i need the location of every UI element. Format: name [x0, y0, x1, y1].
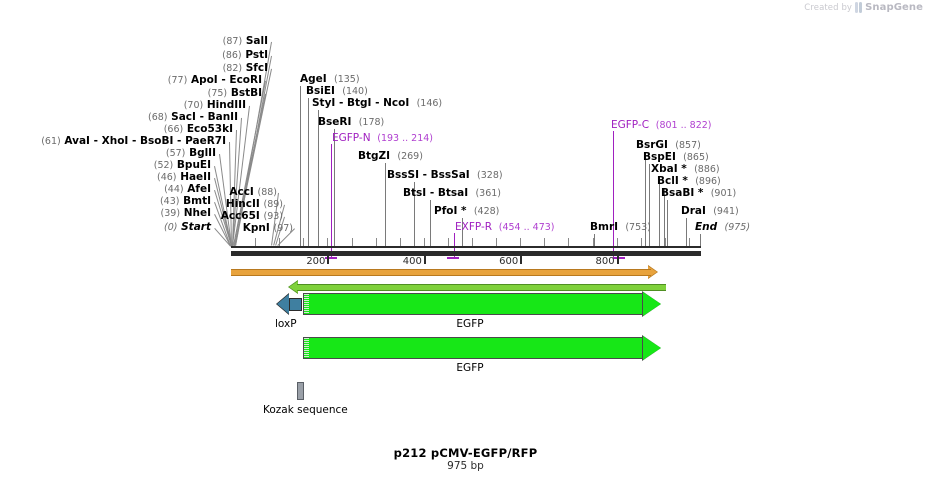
- kozak-box: [297, 382, 304, 400]
- enzyme-label-acc65i[interactable]: Acc65I (93): [0, 211, 283, 222]
- enzyme-label-acci[interactable]: AccI (88): [0, 187, 277, 198]
- backbone-main-line: [231, 251, 701, 256]
- enzyme-label-agei[interactable]: AgeI (135): [300, 74, 360, 85]
- primer-label-egfp-c[interactable]: EGFP-C (801 .. 822): [611, 120, 712, 131]
- feature-arrow-egfp-2[interactable]: [303, 337, 643, 359]
- enzyme-label-bsssi[interactable]: BssSI - BssSaI (328): [387, 170, 503, 181]
- leader-line-bsiei: [308, 98, 309, 246]
- snapgene-logo-icon: [855, 2, 862, 13]
- ruler-minor-tick: [641, 238, 642, 246]
- enzyme-label-eco53ki[interactable]: (66) Eco53kI: [0, 124, 233, 135]
- ruler-minor-tick: [665, 238, 666, 246]
- enzyme-label-haeii[interactable]: (46) HaeII: [0, 172, 211, 183]
- leader-line-btgzi: [385, 163, 386, 246]
- ruler-minor-tick: [593, 238, 594, 246]
- primer-bracket-egfp-c: [613, 257, 625, 259]
- leader-line-bsabi: [667, 200, 668, 246]
- enzyme-label-saci[interactable]: (68) SacI - BanII: [0, 112, 238, 123]
- leader-line-styi: [318, 110, 319, 246]
- ruler-tick-600: [520, 256, 522, 264]
- loxp-arrow-body: [289, 298, 302, 311]
- feature-arrow-body: [303, 337, 643, 359]
- ruler-minor-tick: [327, 238, 328, 246]
- enzyme-label-avai[interactable]: (61) AvaI - XhoI - BsoBI - PaeR7I: [0, 136, 226, 147]
- ruler-minor-tick: [448, 238, 449, 246]
- ruler-minor-tick: [303, 238, 304, 246]
- ruler-minor-tick: [424, 238, 425, 246]
- ruler-tick-800: [617, 256, 619, 264]
- enzyme-label-bmri[interactable]: BmrI (753): [590, 222, 651, 233]
- enzyme-label-bstbi[interactable]: (75) BstBI: [0, 88, 262, 99]
- leader-line-drai: [686, 218, 687, 246]
- leader-line-bmri: [594, 234, 595, 246]
- primer-label-egfp-n[interactable]: EGFP-N (193 .. 214): [332, 133, 433, 144]
- enzyme-label-psti[interactable]: (86) PstI: [0, 50, 268, 61]
- ruler-minor-tick: [255, 238, 256, 246]
- primer-bracket-exfp-r: [447, 257, 459, 259]
- leader-line-agei: [300, 86, 301, 246]
- enzyme-label-styi[interactable]: StyI - BtgI - NcoI (146): [312, 98, 442, 109]
- primer-line-egfp-c: [613, 131, 614, 259]
- enzyme-label-bglii[interactable]: (57) BglII: [0, 148, 216, 159]
- enzyme-label-sali[interactable]: (87) SalI: [0, 36, 268, 47]
- enzyme-label-bsiei[interactable]: BsiEI (140): [306, 86, 368, 97]
- ruler-minor-tick: [520, 238, 521, 246]
- enzyme-label-bseri[interactable]: BseRI (178): [318, 117, 384, 128]
- enzyme-label-btgzi[interactable]: BtgZI (269): [358, 151, 423, 162]
- feature-arrow-body: [303, 293, 643, 315]
- ruler-label-600: 600: [494, 256, 518, 267]
- enzyme-label-drai[interactable]: DraI (941): [681, 206, 739, 217]
- enzyme-label-xbai[interactable]: XbaI * (886): [651, 164, 720, 175]
- feature-arrowhead: [643, 336, 661, 360]
- primer-line-egfp-n: [331, 144, 332, 259]
- enzyme-label-end[interactable]: End (975): [695, 222, 750, 233]
- enzyme-label-kpni[interactable]: KpnI (97): [0, 223, 293, 234]
- enzyme-label-bpuei[interactable]: (52) BpuEI: [0, 160, 211, 171]
- enzyme-label-bcli[interactable]: BclI * (896): [657, 176, 721, 187]
- leader-line-end: [700, 234, 701, 246]
- ruler-minor-tick: [689, 238, 690, 246]
- feature-start-stripe: [304, 338, 309, 358]
- enzyme-label-sfci[interactable]: (82) SfcI: [0, 63, 268, 74]
- ruler-minor-tick: [376, 238, 377, 246]
- leader-line-bspei: [649, 164, 650, 246]
- ruler-tick-200: [327, 256, 329, 264]
- feature-start-stripe: [304, 294, 309, 314]
- enzyme-label-hindiii[interactable]: (70) HindIII: [0, 100, 246, 111]
- ruler-minor-tick: [472, 238, 473, 246]
- leader-line-bseri: [334, 129, 335, 246]
- primer-label-exfp-r[interactable]: EXFP-R (454 .. 473): [455, 222, 555, 233]
- orange-track-body: [231, 269, 651, 276]
- kozak-label: Kozak sequence: [263, 404, 348, 416]
- enzyme-label-bsrgi[interactable]: BsrGI (857): [636, 140, 701, 151]
- plasmid-length: 975 bp: [0, 460, 931, 472]
- enzyme-label-bsabi[interactable]: BsaBI * (901): [661, 188, 736, 199]
- ruler-minor-tick: [544, 238, 545, 246]
- feature-name-egfp-2: EGFP: [456, 362, 483, 374]
- ruler-label-200: 200: [301, 256, 325, 267]
- ruler-minor-tick: [496, 238, 497, 246]
- ruler-tick-400: [424, 256, 426, 264]
- enzyme-label-pfoi[interactable]: PfoI * (428): [434, 206, 499, 217]
- enzyme-label-bspei[interactable]: BspEI (865): [643, 152, 709, 163]
- green-track-body: [297, 284, 666, 291]
- ruler-minor-tick: [568, 238, 569, 246]
- enzyme-label-hincii[interactable]: HincII (89): [0, 199, 283, 210]
- plasmid-map-canvas: Created by SnapGene (87) SalI(86) PstI(8…: [0, 0, 931, 480]
- ruler-minor-tick: [617, 238, 618, 246]
- feature-arrow-egfp-1[interactable]: [303, 293, 643, 315]
- plasmid-title: p212 pCMV-EGFP/RFP: [0, 446, 931, 460]
- ruler-minor-tick: [279, 238, 280, 246]
- ruler-minor-tick: [400, 238, 401, 246]
- ruler-label-400: 400: [398, 256, 422, 267]
- ruler-label-800: 800: [591, 256, 615, 267]
- watermark-prefix: Created by: [804, 3, 852, 13]
- backbone-top-line: [231, 246, 701, 248]
- watermark-brand: SnapGene: [865, 2, 923, 13]
- loxp-arrowhead: [277, 294, 289, 314]
- loxp-label: loxP: [275, 318, 297, 330]
- enzyme-label-btsi[interactable]: BtsI - BtsaI (361): [403, 188, 501, 199]
- ruler-minor-tick: [352, 238, 353, 246]
- snapgene-watermark: Created by SnapGene: [804, 2, 923, 13]
- leader-line-btsi: [430, 200, 431, 246]
- enzyme-label-apoi[interactable]: (77) ApoI - EcoRI: [0, 75, 262, 86]
- feature-arrowhead: [643, 292, 661, 316]
- feature-name-egfp-1: EGFP: [456, 318, 483, 330]
